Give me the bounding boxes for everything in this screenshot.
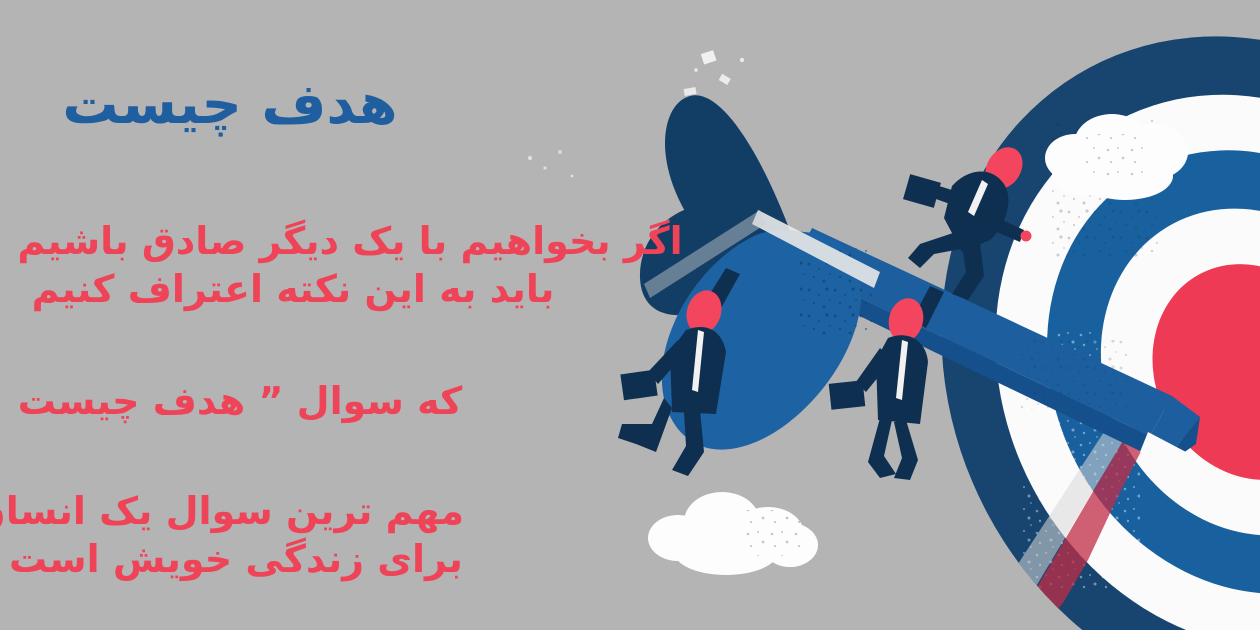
paragraph-1: اگر بخواهیم با یک دیگر صادق باشیم باید ب… (0, 218, 560, 314)
paragraph-1-line-2: باید به این نکته اعتراف کنیم (0, 266, 586, 314)
paragraph-3: مهم ترین سوال یک انسان برای زندگی خویش ا… (0, 488, 490, 584)
paragraph-2-line-1: که سوال ” هدف چیست (0, 378, 480, 426)
poster-canvas: هدف چیست اگر بخواهیم با یک دیگر صادق باش… (0, 0, 1260, 630)
paragraph-1-line-1: اگر بخواهیم با یک دیگر صادق باشیم (0, 218, 700, 266)
paragraph-2: که سوال ” هدف چیست (0, 378, 500, 426)
paragraph-3-line-1: مهم ترین سوال یک انسان (0, 488, 464, 536)
paragraph-3-line-2: برای زندگی خویش است (0, 536, 472, 584)
text-layer: هدف چیست اگر بخواهیم با یک دیگر صادق باش… (0, 0, 1260, 630)
page-title: هدف چیست (10, 72, 450, 138)
